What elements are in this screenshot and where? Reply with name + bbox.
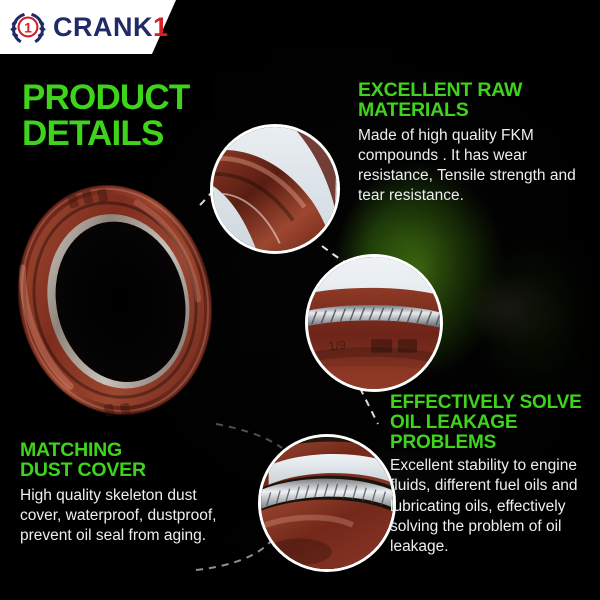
- brand-name-main: CRANK: [53, 12, 153, 42]
- infographic-canvas: 1/9: [0, 0, 600, 600]
- title-line-2: DETAILS: [22, 116, 252, 152]
- feature-heading-line-1: MATCHING: [20, 440, 238, 460]
- feature-block-dust-cover: MATCHING DUST COVER High quality skeleto…: [20, 440, 238, 546]
- feature-heading-line-3: PROBLEMS: [390, 433, 590, 453]
- feature-block-oil-leakage: EFFECTIVELY SOLVE OIL LEAKAGE PROBLEMS E…: [390, 393, 590, 557]
- product-oil-seal-image: [8, 178, 223, 423]
- feature-body-text: High quality skeleton dust cover, waterp…: [20, 486, 238, 546]
- callout-seal-lip-closeup: [258, 434, 396, 572]
- feature-heading-line-1: EFFECTIVELY SOLVE: [390, 393, 590, 413]
- svg-text:1/9: 1/9: [328, 338, 347, 354]
- laurel-wreath-emblem-icon: 1: [8, 9, 48, 45]
- feature-heading-line-2: DUST COVER: [20, 460, 238, 480]
- brand-name-accent: 1: [153, 12, 169, 42]
- title-line-1: PRODUCT: [22, 80, 252, 116]
- callout-spring-coil-closeup: 1/9: [305, 254, 443, 392]
- feature-heading-line-1: EXCELLENT RAW: [358, 80, 586, 100]
- feature-heading-line-2: OIL LEAKAGE: [390, 413, 590, 433]
- feature-heading-line-2: MATERIALS: [358, 100, 586, 120]
- brand-wordmark: CRANK1: [53, 14, 169, 41]
- brand-logo[interactable]: 1 CRANK1: [8, 9, 169, 45]
- emblem-number: 1: [24, 19, 32, 35]
- feature-block-raw-materials: EXCELLENT RAW MATERIALS Made of high qua…: [358, 80, 586, 206]
- page-title: PRODUCT DETAILS: [22, 80, 252, 153]
- feature-body-text: Excellent stability to engine fluids, di…: [390, 456, 590, 557]
- feature-body-text: Made of high quality FKM compounds . It …: [358, 126, 586, 207]
